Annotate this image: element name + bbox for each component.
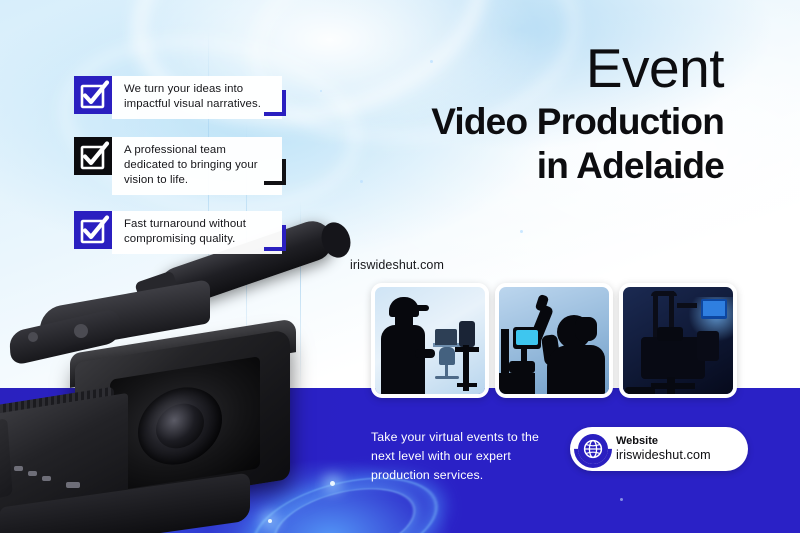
corner-bracket <box>264 159 286 185</box>
globe-icon <box>570 427 614 471</box>
corner-bracket <box>264 225 286 251</box>
checkbox-checked-icon <box>74 137 112 175</box>
headline-line-2: in Adelaide <box>431 144 724 188</box>
camera-button <box>14 466 23 471</box>
camera-button <box>66 482 80 488</box>
camera-knob <box>28 332 38 342</box>
poster-canvas: We turn your ideas into impactful visual… <box>0 0 800 533</box>
gallery-thumbnail-3[interactable] <box>619 283 737 398</box>
corner-bracket <box>264 90 286 116</box>
tagline-text: Take your virtual events to the next lev… <box>371 428 561 485</box>
camera-button <box>42 476 51 481</box>
website-badge[interactable]: Website iriswideshut.com <box>570 427 748 471</box>
dust-speck <box>360 180 363 183</box>
checkbox-checked-icon <box>74 76 112 114</box>
camera-knob <box>74 324 88 338</box>
feature-text: We turn your ideas into impactful visual… <box>112 76 282 119</box>
dust-speck <box>320 90 322 92</box>
page-title: Event Video Production in Adelaide <box>431 40 724 187</box>
site-label: iriswideshut.com <box>350 258 444 272</box>
dust-speck <box>520 230 523 233</box>
feature-item: A professional team dedicated to bringin… <box>74 137 282 195</box>
feature-item: We turn your ideas into impactful visual… <box>74 76 282 119</box>
website-badge-label: Website <box>616 435 711 448</box>
gallery-thumbnail-1[interactable] <box>371 283 489 398</box>
checkbox-checked-icon <box>74 211 112 249</box>
camera-button <box>28 471 37 476</box>
headline-line-1: Video Production <box>431 100 724 144</box>
feature-text: Fast turnaround without compromising qua… <box>112 211 282 254</box>
feature-text: A professional team dedicated to bringin… <box>112 137 282 195</box>
gallery-thumbnail-2[interactable] <box>495 283 613 398</box>
video-camera-image <box>0 228 370 533</box>
feature-list: We turn your ideas into impactful visual… <box>74 76 299 272</box>
website-badge-url: iriswideshut.com <box>616 448 711 463</box>
feature-item: Fast turnaround without compromising qua… <box>74 211 282 254</box>
dust-speck <box>620 498 623 501</box>
headline-eyebrow: Event <box>431 40 724 96</box>
